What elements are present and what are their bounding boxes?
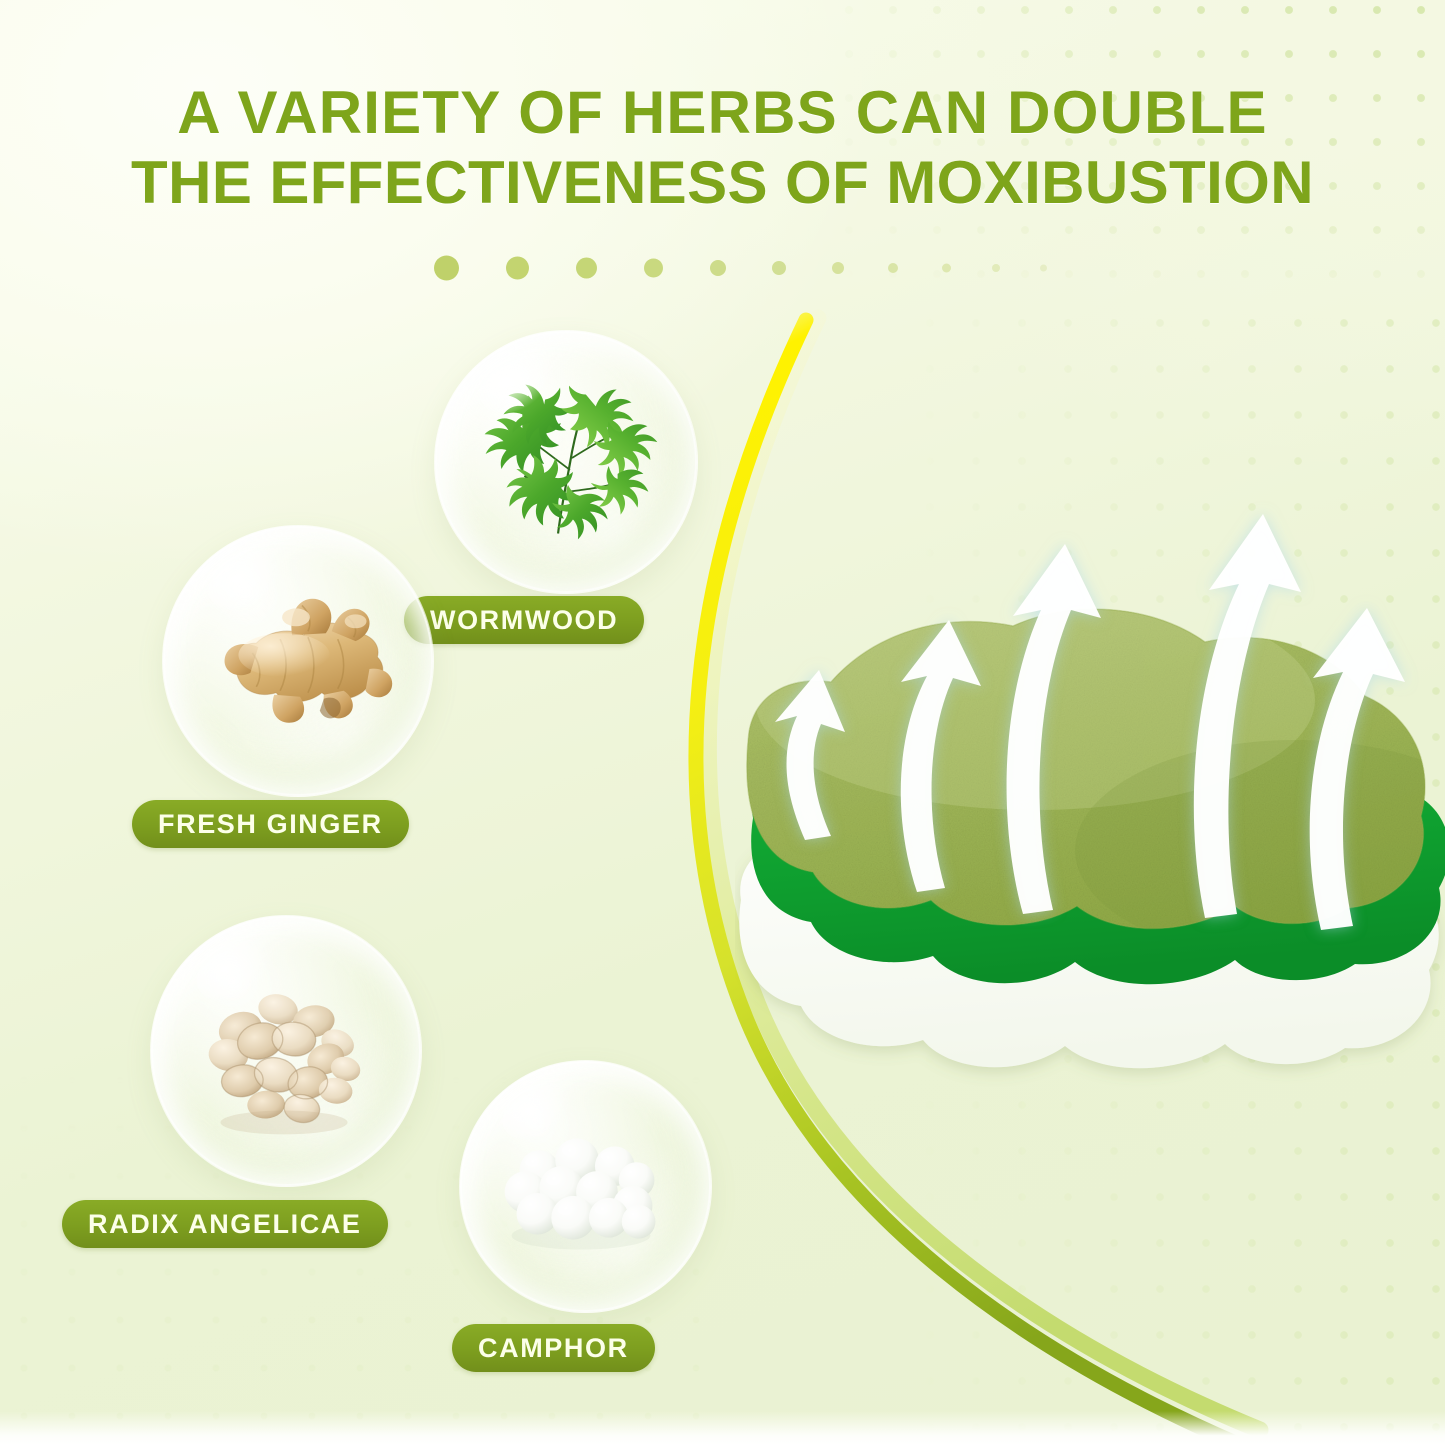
dried-root-slices-illustration [151, 916, 421, 1186]
ingredient-bubble-wormwood [434, 330, 698, 594]
label-camphor: CAMPHOR [452, 1324, 655, 1372]
ginger-root-illustration [163, 526, 433, 796]
mugwort-leaves-illustration [435, 331, 697, 593]
ingredient-bubble-camphor [459, 1060, 712, 1313]
camphor-balls-illustration [460, 1061, 711, 1312]
label-fresh-ginger: FRESH GINGER [132, 800, 409, 848]
bottom-edge-fade [0, 1411, 1445, 1445]
label-radix-angelicae: RADIX ANGELICAE [62, 1200, 388, 1248]
ingredient-bubble-fresh-ginger [162, 525, 434, 797]
wormwood-image [435, 331, 697, 593]
fresh-ginger-image [163, 526, 433, 796]
ingredient-bubble-radix-angelicae [150, 915, 422, 1187]
radix-angelicae-image [151, 916, 421, 1186]
camphor-image [460, 1061, 711, 1312]
label-wormwood: WORMWOOD [404, 596, 644, 644]
moxibustion-patch-illustration [735, 500, 1445, 1120]
poster-canvas: A VARIETY OF HERBS CAN DOUBLE THE EFFECT… [0, 0, 1445, 1445]
